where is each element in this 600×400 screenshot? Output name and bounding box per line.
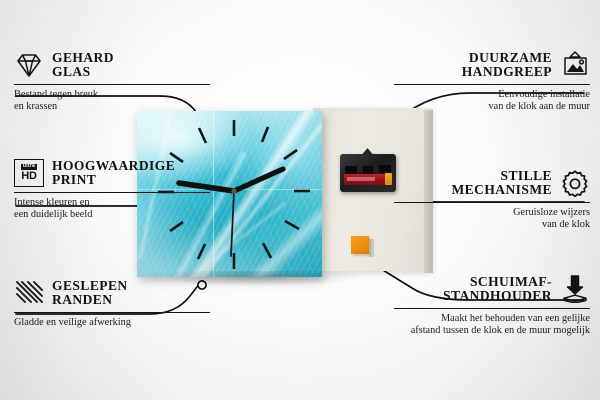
feature-divider [394,84,590,85]
feature-divider [14,312,210,313]
feature-description: Gladde en veilige afwerking [14,317,210,329]
gear-icon [560,168,590,198]
feature-description: Bestand tegen breuk en krassen [14,89,210,114]
feature-hoogwaardige-print: ultra HD HOOGWAARDIGE PRINT Intense kleu… [14,158,210,222]
feature-schuimaf-standhouder: SCHUIMAF- STANDHOUDER Maakt het behouden… [394,274,590,338]
feature-header: ultra HD HOOGWAARDIGE PRINT [14,158,210,188]
feature-geslepen-randen: GESLEPEN RANDEN Gladde en veilige afwerk… [14,278,210,329]
ultra-hd-icon: ultra HD [14,158,44,188]
feature-header: GESLEPEN RANDEN [14,278,210,308]
foam-spacer-side [369,239,374,257]
diamond-icon [14,50,44,80]
feature-duurzame-handgreep: DUURZAME HANDGREEP Eenvoudige installati… [394,50,590,114]
ultra-hd-icon-small-text: ultra [21,164,37,169]
infographic-canvas: GEHARD GLAS Bestand tegen breuk en krass… [0,0,600,400]
feature-title: HOOGWAARDIGE PRINT [52,159,175,188]
feature-divider [394,308,590,309]
clock-movement [340,148,396,192]
ultra-hd-icon-big-text: HD [21,171,37,182]
minute-hand [234,169,283,191]
feature-title: GESLEPEN RANDEN [52,279,128,308]
movement-slot [379,165,391,173]
battery-label [347,177,375,181]
feature-description: Geruisloze wijzers van de klok [394,207,590,232]
feature-description: Intense kleuren en een duidelijk beeld [14,197,210,222]
tick-7 [198,244,205,259]
framed-picture-icon [560,50,590,80]
feature-header: STILLE MECHANISME [394,168,590,198]
clock-center-cap [231,188,236,193]
feature-gehard-glas: GEHARD GLAS Bestand tegen breuk en krass… [14,50,210,114]
diagonal-lines-icon [14,278,44,308]
feature-divider [14,192,210,193]
tick-5 [263,243,271,258]
arrow-down-pad-icon [560,274,590,304]
feature-title: DUURZAME HANDGREEP [462,51,552,80]
second-hand [231,191,234,256]
tick-1 [262,127,268,142]
feature-header: DUURZAME HANDGREEP [394,50,590,80]
feature-title: GEHARD GLAS [52,51,114,80]
feature-description: Eenvoudige installatie van de klok aan d… [394,89,590,114]
tick-4 [285,221,299,229]
feature-title: SCHUIMAF- STANDHOUDER [443,275,552,304]
feature-title: STILLE MECHANISME [451,169,552,198]
tick-2 [284,150,297,159]
battery-positive-terminal [385,173,392,185]
feature-header: GEHARD GLAS [14,50,210,80]
feature-description: Maakt het behouden van een gelijke afsta… [394,313,590,338]
tick-8 [170,222,183,231]
feature-header: SCHUIMAF- STANDHOUDER [394,274,590,304]
foam-spacer-pad [351,236,369,254]
feature-divider [394,202,590,203]
feature-divider [14,84,210,85]
tick-11 [199,128,206,143]
feature-stille-mechanisme: STILLE MECHANISME Geruisloze wijzers van… [394,168,590,232]
